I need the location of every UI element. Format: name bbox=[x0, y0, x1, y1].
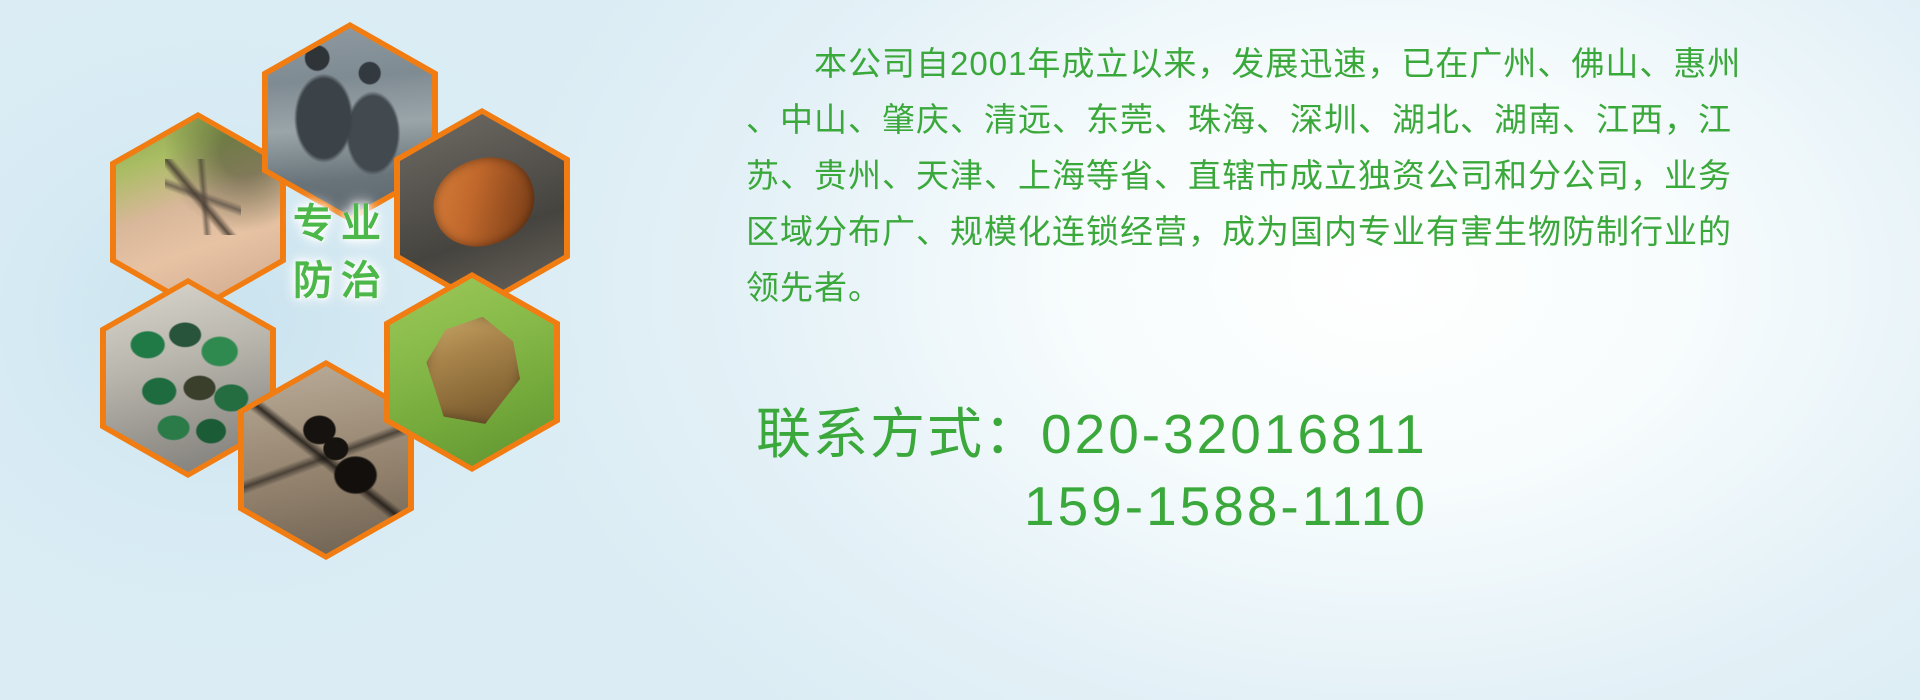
cockroach-photo bbox=[400, 114, 564, 302]
contact-phone-2[interactable]: 159-1588-1110 bbox=[1024, 475, 1428, 537]
collage-headline: 专业 防治 bbox=[266, 196, 416, 310]
collage-headline-line-2: 防治 bbox=[266, 253, 416, 310]
collage-headline-line-1: 专业 bbox=[293, 202, 389, 246]
description-line-5: 领先者。 bbox=[746, 260, 1866, 316]
contact-secondary-line: 159-1588-1110 bbox=[756, 470, 1816, 542]
mosquito-photo bbox=[116, 118, 280, 306]
contact-block: 联系方式：020-32016811 159-1588-1110 bbox=[756, 398, 1816, 542]
description-line-4: 区域分布广、规模化连锁经营，成为国内专业有害生物防制行业的 bbox=[746, 204, 1866, 260]
contact-phone-1[interactable]: 020-32016811 bbox=[1041, 403, 1428, 465]
hex-tile-mosquito bbox=[110, 112, 286, 312]
description-line-1: 本公司自2001年成立以来，发展迅速，已在广州、佛山、惠州 bbox=[746, 36, 1866, 92]
ant-photo bbox=[244, 366, 408, 554]
company-description: 本公司自2001年成立以来，发展迅速，已在广州、佛山、惠州 、中山、肇庆、清远、… bbox=[746, 36, 1866, 316]
hex-tile-cockroach-inner bbox=[400, 114, 564, 302]
hex-photo-collage: 专业 防治 bbox=[78, 0, 698, 700]
contact-label: 联系方式： bbox=[756, 403, 1041, 465]
contact-primary-line: 联系方式：020-32016811 bbox=[756, 398, 1816, 470]
hex-tile-mosquito-inner bbox=[116, 118, 280, 306]
description-line-2: 、中山、肇庆、清远、东莞、珠海、深圳、湖北、湖南、江西，江 bbox=[746, 92, 1866, 148]
promo-banner: 专业 防治 本公司自2001年成立以来，发展迅速，已在广州、佛山、惠州 、中山、… bbox=[0, 0, 1920, 700]
description-line-3: 苏、贵州、天津、上海等省、直辖市成立独资公司和分公司，业务 bbox=[746, 148, 1866, 204]
hex-tile-ant-inner bbox=[244, 366, 408, 554]
